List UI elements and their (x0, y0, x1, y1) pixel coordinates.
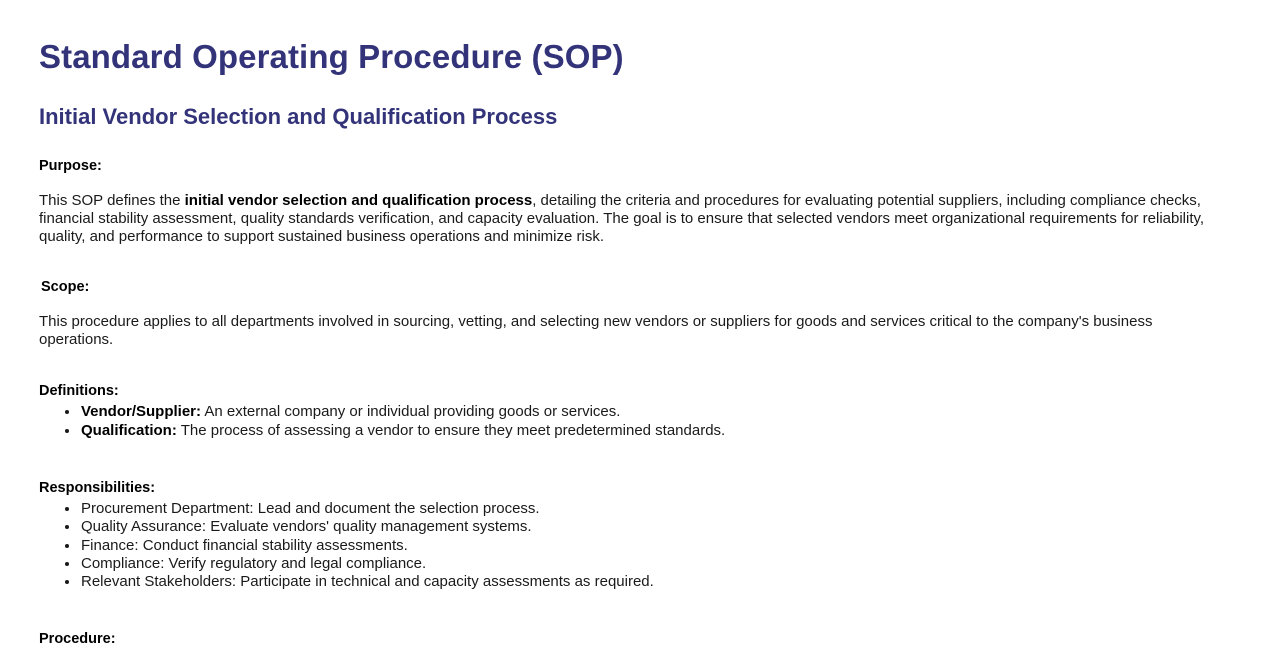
section-heading-responsibilities: Responsibilities: (39, 440, 1224, 497)
section-heading-definitions: Definitions: (39, 349, 1224, 400)
page-title: Standard Operating Procedure (SOP) (39, 0, 1224, 76)
scope-paragraph: This procedure applies to all department… (39, 297, 1224, 349)
list-item: Finance: Conduct financial stability ass… (80, 537, 1224, 555)
definition-text: An external company or individual provid… (201, 403, 620, 420)
definitions-list: Vendor/Supplier: An external company or … (39, 400, 1224, 439)
section-heading-procedure: Procedure: (39, 591, 1224, 648)
definition-text: The process of assessing a vendor to ens… (177, 422, 725, 439)
document-page: Standard Operating Procedure (SOP) Initi… (0, 0, 1263, 649)
list-item: Vendor/Supplier: An external company or … (80, 403, 1224, 421)
list-item: Procurement Department: Lead and documen… (80, 500, 1224, 518)
purpose-paragraph: This SOP defines the initial vendor sele… (39, 176, 1224, 247)
list-item: Compliance: Verify regulatory and legal … (80, 555, 1224, 573)
purpose-bold-phrase: initial vendor selection and qualificati… (185, 192, 533, 209)
definition-term: Qualification: (81, 422, 177, 439)
responsibilities-list: Procurement Department: Lead and documen… (39, 497, 1224, 591)
definition-term: Vendor/Supplier: (81, 403, 201, 420)
list-item: Quality Assurance: Evaluate vendors' qua… (80, 518, 1224, 536)
document-subtitle: Initial Vendor Selection and Qualificati… (39, 104, 1224, 129)
list-item: Relevant Stakeholders: Participate in te… (80, 573, 1224, 591)
section-heading-scope: Scope: (39, 246, 1224, 296)
purpose-text-lead: This SOP defines the (39, 192, 185, 209)
section-heading-purpose: Purpose: (39, 129, 1224, 175)
list-item: Qualification: The process of assessing … (80, 422, 1224, 440)
